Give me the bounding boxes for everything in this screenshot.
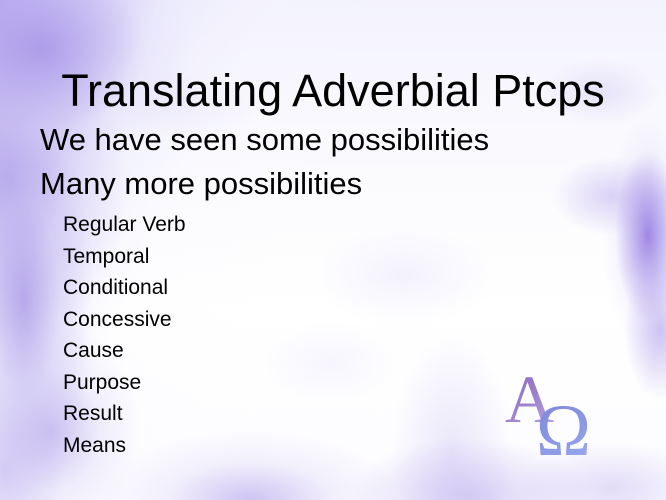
slide-content: Translating Adverbial Ptcps We have seen…: [0, 0, 666, 500]
presentation-slide: Translating Adverbial Ptcps We have seen…: [0, 0, 666, 500]
slide-title: Translating Adverbial Ptcps: [0, 64, 666, 118]
bullet-level2-item: Temporal: [63, 241, 666, 273]
bullet-level1-item: Many more possibilities: [40, 162, 666, 206]
bullet-level2-item: Regular Verb: [63, 209, 666, 241]
bullet-level2-item: Conditional: [63, 272, 666, 304]
bullet-level1-item: We have seen some possibilities: [40, 118, 666, 162]
omega-glyph: Ω: [536, 390, 591, 460]
alpha-omega-logo: Α Ω: [503, 362, 599, 460]
bullet-level2-item: Concessive: [63, 304, 666, 336]
